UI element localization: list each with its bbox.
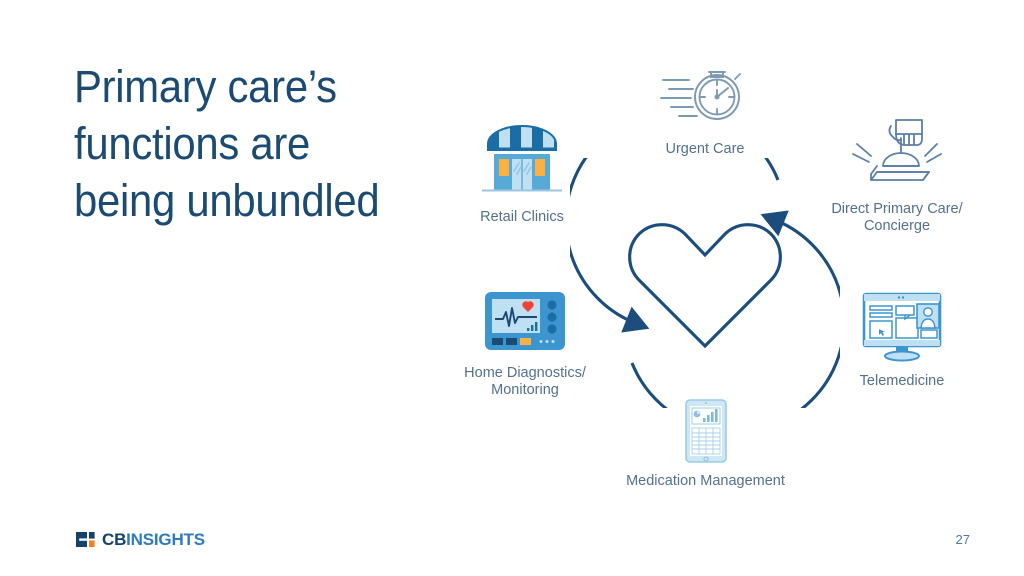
video-call-monitor-icon (822, 288, 982, 369)
vital-signs-monitor-icon (430, 286, 620, 361)
heart-outline-icon (630, 225, 781, 346)
node-telemedicine[interactable]: Telemedicine (822, 288, 982, 390)
node-retail-clinics[interactable]: Retail Clinics (442, 118, 602, 226)
tablet-charts-icon (608, 398, 803, 469)
cb-insights-wordmark: CBINSIGHTS (102, 532, 205, 547)
storefront-icon (442, 118, 602, 205)
node-label: Urgent Care (630, 141, 780, 158)
page-number: 27 (956, 532, 970, 547)
node-home-diagnostics[interactable]: Home Diagnostics/ Monitoring (430, 286, 620, 399)
unbundling-diagram: Urgent Care (430, 48, 1000, 508)
cb-insights-logo-mark (76, 532, 97, 547)
logo-cb-text: CB (102, 530, 126, 549)
node-label: Telemedicine (822, 373, 982, 390)
slide-canvas: Primary care’s functions are being unbun… (0, 0, 1024, 576)
cb-insights-logo: CBINSIGHTS (76, 530, 205, 548)
node-medication-management[interactable]: Medication Management (608, 398, 803, 490)
node-label: Medication Management (608, 473, 803, 490)
node-urgent-care[interactable]: Urgent Care (630, 60, 780, 158)
stopwatch-icon (630, 60, 780, 137)
node-label: Direct Primary Care/ Concierge (802, 201, 992, 235)
logo-insights-text: INSIGHTS (126, 530, 205, 549)
service-bell-hand-icon (802, 108, 992, 197)
page-title: Primary care’s functions are being unbun… (74, 58, 427, 229)
node-direct-primary-care[interactable]: Direct Primary Care/ Concierge (802, 108, 992, 235)
node-label: Retail Clinics (442, 209, 602, 226)
node-label: Home Diagnostics/ Monitoring (430, 365, 620, 399)
